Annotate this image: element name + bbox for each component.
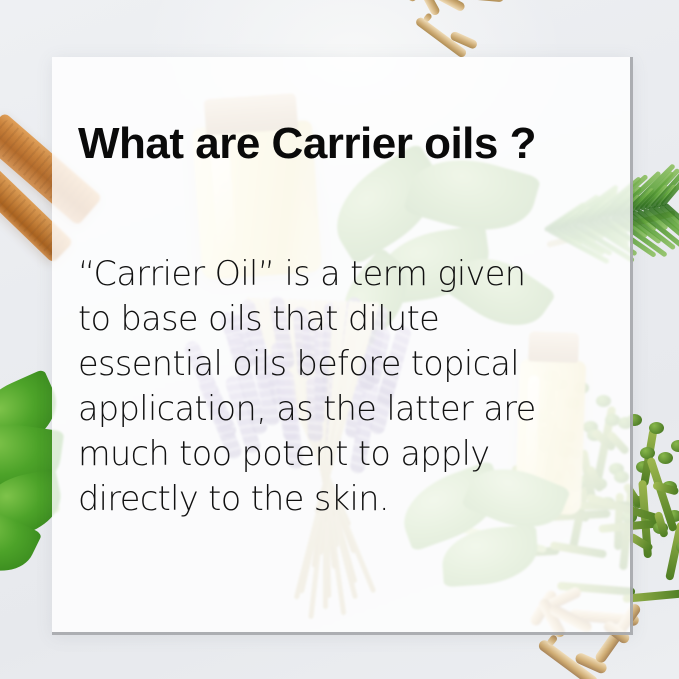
page-title: What are Carrier oils ? xyxy=(78,118,612,169)
body-line: much too potent to apply xyxy=(78,431,612,476)
carrier-oils-infographic: What are Carrier oils ? “Carrier Oil” is… xyxy=(0,0,679,679)
body-paragraph: “Carrier Oil” is a term givento base oil… xyxy=(78,169,612,521)
body-line: directly to the skin. xyxy=(78,476,612,521)
body-line: “Carrier Oil” is a term given xyxy=(78,251,612,296)
body-line: to base oils that dilute xyxy=(78,296,612,341)
content-block: What are Carrier oils ? “Carrier Oil” is… xyxy=(78,118,612,521)
body-line: essential oils before topical xyxy=(78,341,612,386)
body-line: application, as the latter are xyxy=(78,386,612,431)
